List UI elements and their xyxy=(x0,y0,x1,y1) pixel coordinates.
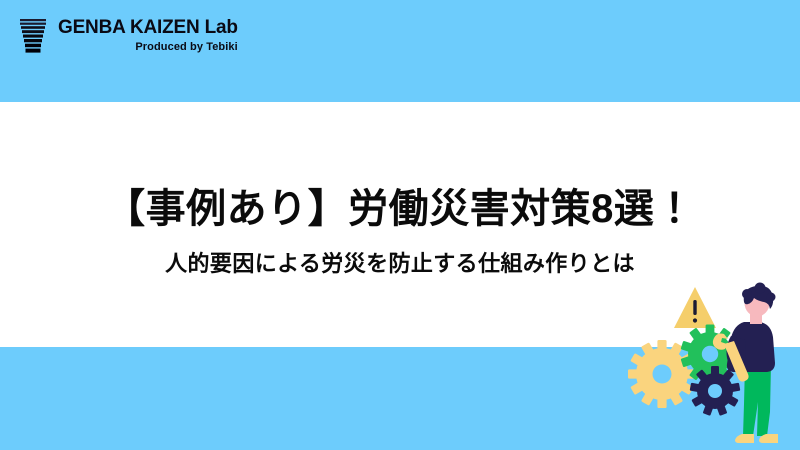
warning-triangle-icon xyxy=(674,287,716,328)
worker-with-gears-illustration xyxy=(620,278,800,450)
brand-subtitle: Produced by Tebiki xyxy=(135,42,237,53)
page-title: 【事例あり】労働災害対策8選！ xyxy=(0,186,800,232)
page-subtitle: 人的要因による労災を防止する仕組み作りとは xyxy=(0,251,800,277)
main-copy-block: 【事例あり】労働災害対策8選！ 人的要因による労災を防止する仕組み作りとは xyxy=(0,186,800,278)
brand-logo[interactable]: GENBA KAIZEN Lab Produced by Tebiki xyxy=(16,18,238,54)
stacked-layers-pyramid-icon xyxy=(16,18,50,54)
gear-icon-navy xyxy=(690,366,741,416)
brand-title: GENBA KAIZEN Lab xyxy=(58,18,238,37)
brand-text-block: GENBA KAIZEN Lab Produced by Tebiki xyxy=(58,18,238,53)
slide-canvas: GENBA KAIZEN Lab Produced by Tebiki 【事例あ… xyxy=(0,0,800,450)
illustration-svg xyxy=(620,278,800,450)
